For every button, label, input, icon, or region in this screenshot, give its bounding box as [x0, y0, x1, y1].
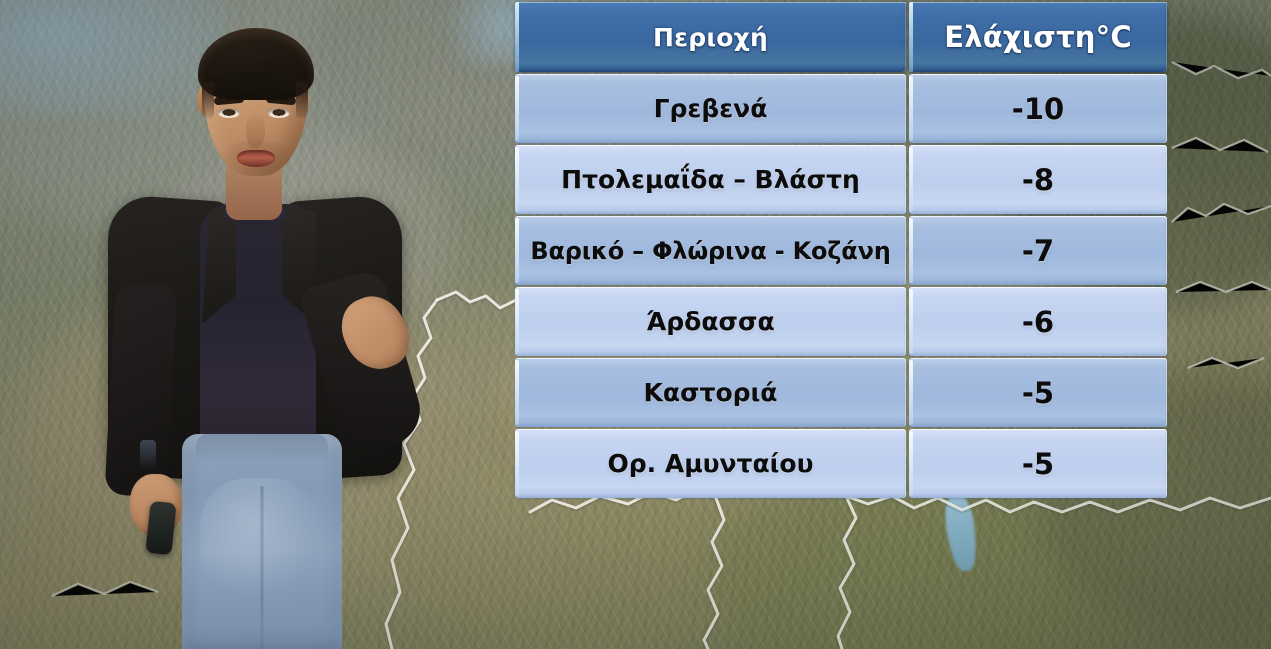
table-row: Άρδασσα -6 [515, 287, 1172, 356]
table-row: Πτολεμαΐδα – Βλάστη -8 [515, 145, 1172, 214]
eye-right [268, 108, 290, 118]
header-label-temperature: Ελάχιστη°C [934, 20, 1142, 54]
temperature-value: -10 [1002, 92, 1074, 126]
cell-temperature: -7 [909, 216, 1167, 285]
temperature-value: -7 [1012, 234, 1064, 268]
eye-left [218, 108, 240, 118]
jeans-fly [140, 440, 156, 470]
jeans [182, 434, 342, 649]
sideburn-left [202, 82, 214, 118]
cell-temperature: -10 [909, 74, 1167, 143]
cell-region: Βαρικό – Φλώρινα - Κοζάνη [515, 216, 906, 285]
cell-temperature: -5 [909, 358, 1167, 427]
temperature-value: -8 [1012, 163, 1064, 197]
region-name: Βαρικό – Φλώρινα - Κοζάνη [520, 237, 900, 265]
remote-control [145, 501, 176, 555]
table-row: Βαρικό – Φλώρινα - Κοζάνη -7 [515, 216, 1172, 285]
region-name: Καστοριά [634, 378, 788, 407]
region-name: Πτολεμαΐδα – Βλάστη [551, 165, 870, 194]
weather-presenter [74, 8, 414, 649]
cell-temperature: -5 [909, 429, 1167, 498]
nose [246, 114, 265, 148]
cell-region: Πτολεμαΐδα – Βλάστη [515, 145, 906, 214]
cell-region: Καστοριά [515, 358, 906, 427]
table-row: Καστοριά -5 [515, 358, 1172, 427]
table-row: Γρεβενά -10 [515, 74, 1172, 143]
table-row: Ορ. Αμυνταίου -5 [515, 429, 1172, 498]
region-name: Γρεβενά [644, 94, 778, 123]
header-label-region: Περιοχή [643, 23, 778, 52]
sideburn-right [296, 82, 308, 118]
region-name: Ορ. Αμυνταίου [598, 449, 824, 478]
temperature-value: -6 [1012, 305, 1064, 339]
header-cell-temperature: Ελάχιστη°C [909, 2, 1167, 72]
header-cell-region: Περιοχή [515, 2, 906, 72]
cell-region: Γρεβενά [515, 74, 906, 143]
region-name: Άρδασσα [636, 307, 784, 336]
table-header-row: Περιοχή Ελάχιστη°C [515, 2, 1172, 72]
cell-region: Άρδασσα [515, 287, 906, 356]
minimum-temperature-table: Περιοχή Ελάχιστη°C Γρεβενά -10 Πτολεμαΐδ… [515, 0, 1172, 496]
mouth [237, 150, 275, 167]
broadcast-frame: Περιοχή Ελάχιστη°C Γρεβενά -10 Πτολεμαΐδ… [0, 0, 1271, 649]
temperature-value: -5 [1012, 376, 1064, 410]
cell-region: Ορ. Αμυνταίου [515, 429, 906, 498]
cell-temperature: -8 [909, 145, 1167, 214]
cell-temperature: -6 [909, 287, 1167, 356]
temperature-value: -5 [1012, 447, 1064, 481]
